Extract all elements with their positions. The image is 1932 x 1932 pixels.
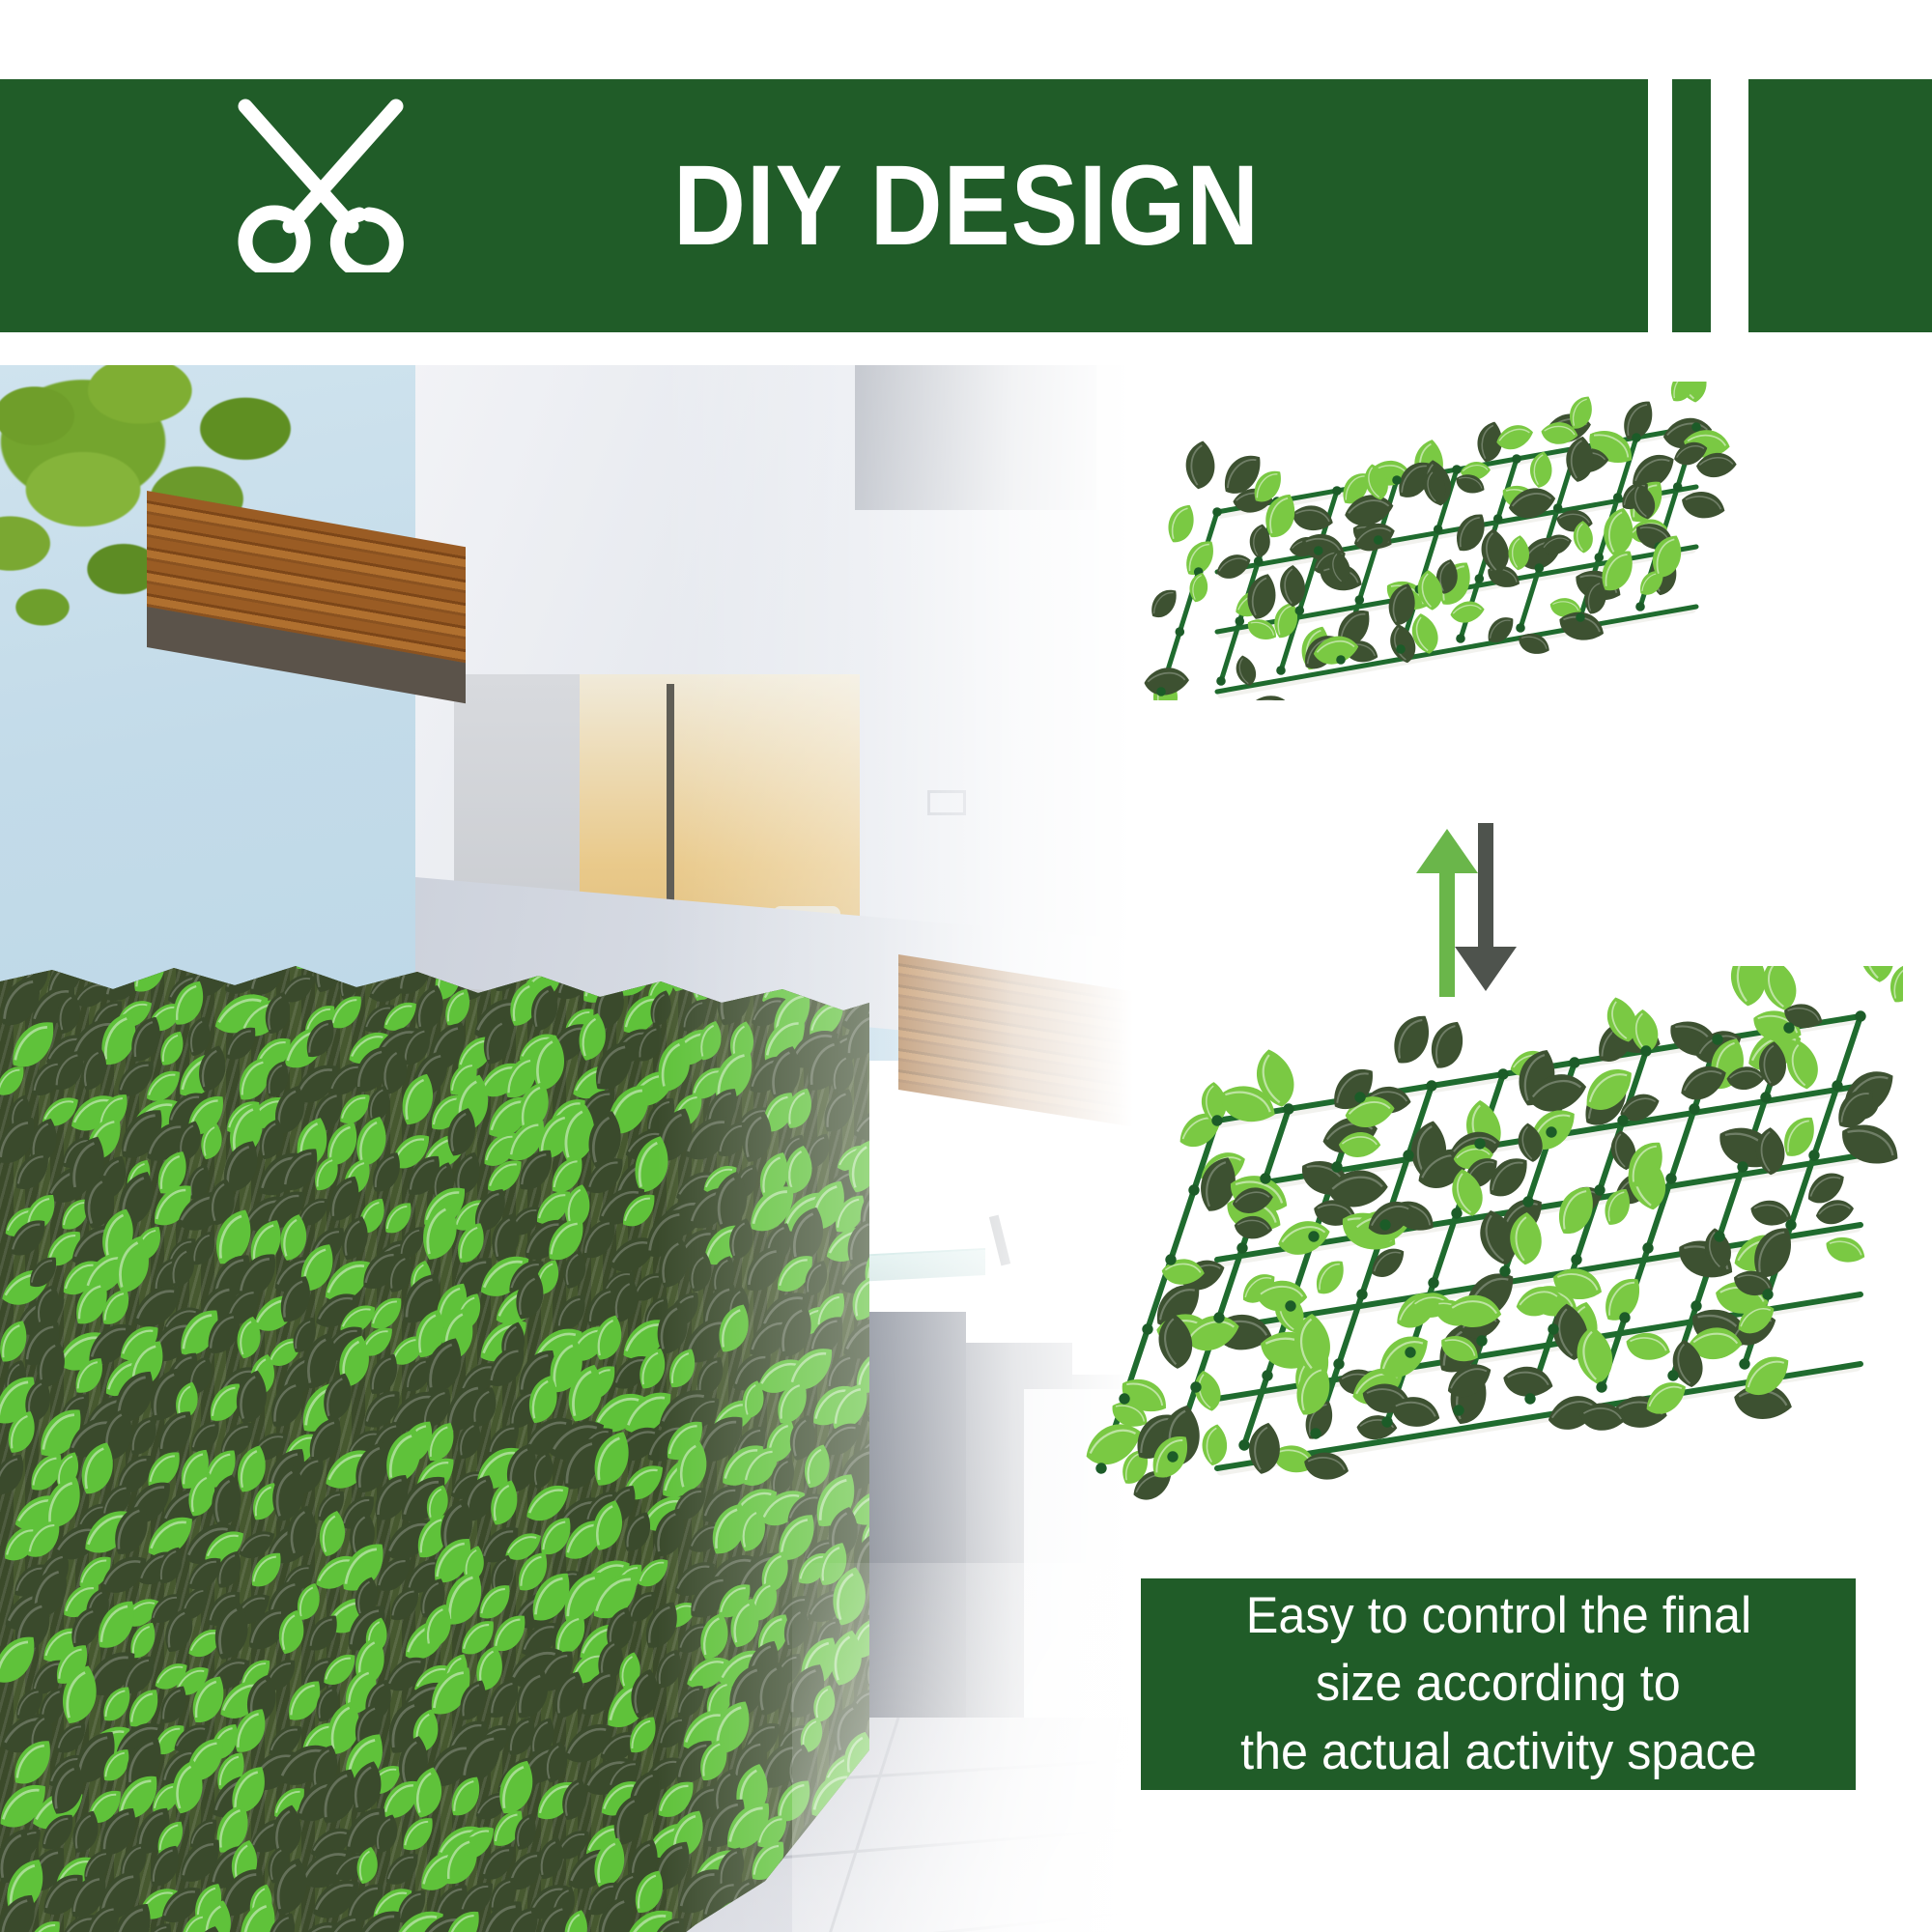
header-banner-end-block (1748, 79, 1932, 332)
product-image-expanded (1053, 966, 1903, 1536)
product-infographic: DIY DESIGN (0, 0, 1932, 1932)
caption-line-2: size according to (1316, 1650, 1681, 1718)
header-banner-tick (1672, 79, 1711, 332)
photo-corner-fade (792, 1563, 1198, 1932)
lifestyle-photo (0, 365, 1198, 1932)
page-title: DIY DESIGN (673, 79, 1260, 332)
product-image-collapsed (1111, 382, 1787, 700)
caption-line-1: Easy to control the final (1245, 1582, 1750, 1650)
scissors-icon (224, 89, 417, 272)
caption-box: Easy to control the final size according… (1141, 1578, 1856, 1790)
caption-line-3: the actual activity space (1240, 1719, 1757, 1786)
